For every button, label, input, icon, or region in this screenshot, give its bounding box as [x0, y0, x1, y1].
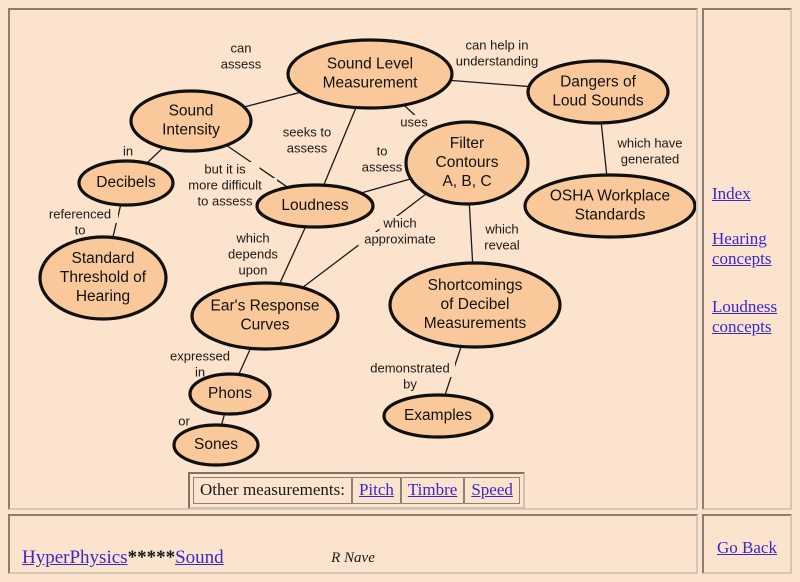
node-label: A, B, C: [442, 173, 491, 190]
loudness-concepts-link[interactable]: Loudness concepts: [712, 297, 788, 336]
node-filter-contours[interactable]: FilterContoursA, B, C: [406, 122, 528, 204]
node-standard-threshold-of-hearing[interactable]: StandardThreshold ofHearing: [40, 237, 166, 319]
node-label: of Decibel: [441, 296, 510, 313]
node-sound-intensity[interactable]: SoundIntensity: [131, 91, 251, 151]
node-label: Loud Sounds: [552, 93, 644, 110]
edge-sound-intensity-to-sound-level-measurement: [244, 92, 301, 107]
edge-label: but it is: [204, 161, 246, 176]
go-back-panel: Go Back: [702, 514, 792, 574]
edge-label: upon: [239, 262, 268, 277]
edge-label: in: [123, 143, 133, 158]
edge-label: understanding: [456, 53, 538, 68]
edge-label: in: [195, 364, 205, 379]
edge-dangers-of-loud-sounds-to-osha-workplace-standards: [601, 123, 606, 175]
author-credit: R Nave: [10, 550, 696, 567]
other-measurements-link-pitch[interactable]: Pitch: [352, 477, 401, 504]
node-label: Standard: [72, 250, 135, 267]
other-measurements-label: Other measurements:: [193, 477, 352, 504]
node-label: Measurements: [424, 315, 527, 332]
node-sones[interactable]: Sones: [174, 425, 258, 465]
node-label: Sound Level: [327, 56, 413, 73]
edge-filter-contours-to-shortcomings-of-decibel-measurements: [469, 204, 472, 263]
concept-map-panel: canassesscan help inunderstandingusessee…: [8, 8, 698, 510]
node-label: Examples: [404, 407, 472, 424]
node-label: Ear's Response: [211, 298, 320, 315]
edge-label: more difficult: [188, 177, 262, 192]
edge-label: which: [484, 221, 518, 236]
edge-label: assess: [221, 56, 262, 71]
edge-label: which: [382, 215, 416, 230]
edge-label: referenced: [49, 206, 111, 221]
node-shortcomings-of-decibel-measurements[interactable]: Shortcomingsof DecibelMeasurements: [390, 263, 560, 347]
node-examples[interactable]: Examples: [384, 395, 492, 437]
edge-label: which have: [616, 135, 682, 150]
concept-map-svg: canassesscan help inunderstandingusessee…: [10, 10, 696, 508]
node-label: Decibels: [96, 174, 156, 191]
edge-filter-contours-to-loudness: [361, 179, 411, 193]
node-label: Shortcomings: [428, 277, 523, 294]
edge-label: depends: [228, 246, 278, 261]
edge-label: seeks to: [283, 124, 331, 139]
side-links-panel: Index Hearing concepts Loudness concepts: [702, 8, 792, 510]
node-loudness[interactable]: Loudness: [257, 185, 373, 227]
node-decibels[interactable]: Decibels: [79, 161, 173, 205]
node-label: Intensity: [162, 122, 220, 139]
node-layer: Sound LevelMeasurementSoundIntensityDang…: [40, 40, 695, 465]
edge-label: to: [75, 222, 86, 237]
edge-label: reveal: [484, 237, 520, 252]
hearing-concepts-link[interactable]: Hearing concepts: [712, 229, 788, 268]
edge-label: demonstrated: [370, 360, 450, 375]
other-measurements-link-timbre[interactable]: Timbre: [401, 477, 464, 504]
node-label: Standards: [575, 207, 646, 224]
edge-label: generated: [621, 151, 680, 166]
other-measurements-bar: Other measurements: Pitch Timbre Speed: [188, 472, 525, 509]
edge-label: approximate: [364, 231, 436, 246]
node-label: Dangers of: [560, 74, 637, 91]
go-back-link[interactable]: Go Back: [704, 538, 790, 558]
timbre-link[interactable]: Timbre: [408, 480, 457, 500]
edge-label: which: [235, 230, 269, 245]
footer-panel: HyperPhysics*****Sound R Nave: [8, 514, 698, 574]
node-label: Phons: [208, 385, 252, 402]
edge-label: to assess: [198, 193, 253, 208]
node-label: Filter: [450, 135, 484, 152]
node-label: Loudness: [281, 197, 348, 214]
index-link[interactable]: Index: [712, 184, 788, 204]
speed-link[interactable]: Speed: [471, 480, 513, 500]
node-label: Measurement: [323, 75, 418, 92]
other-measurements-link-speed[interactable]: Speed: [464, 477, 520, 504]
node-label: Threshold of: [60, 269, 147, 286]
node-label: Hearing: [76, 288, 130, 305]
edge-label: can help in: [466, 37, 529, 52]
edge-label: expressed: [170, 348, 230, 363]
node-label: Sones: [194, 436, 238, 453]
page-root: canassesscan help inunderstandingusessee…: [0, 0, 800, 582]
edge-loudness-to-ears-response-curves: [280, 227, 306, 284]
edge-label: assess: [287, 140, 328, 155]
edge-phons-to-sones: [221, 414, 224, 425]
node-osha-workplace-standards[interactable]: OSHA WorkplaceStandards: [525, 175, 695, 237]
edge-sound-level-measurement-to-dangers-of-loud-sounds: [451, 80, 530, 86]
edge-label: uses: [400, 114, 428, 129]
edge-label: or: [178, 413, 190, 428]
node-ears-response-curves[interactable]: Ear's ResponseCurves: [192, 283, 338, 349]
node-label: Contours: [436, 154, 499, 171]
node-label: OSHA Workplace: [550, 188, 670, 205]
edge-sound-intensity-to-decibels: [147, 148, 163, 164]
edge-ears-response-curves-to-phons: [239, 348, 251, 374]
node-phons[interactable]: Phons: [190, 374, 270, 414]
node-dangers-of-loud-sounds[interactable]: Dangers ofLoud Sounds: [528, 61, 668, 123]
edge-label: assess: [362, 159, 403, 174]
edge-label: by: [403, 376, 417, 391]
edge-label: to: [377, 143, 388, 158]
pitch-link[interactable]: Pitch: [359, 480, 394, 500]
node-sound-level-measurement[interactable]: Sound LevelMeasurement: [288, 40, 452, 108]
node-label: Curves: [240, 317, 289, 334]
node-label: Sound: [169, 103, 214, 120]
edge-label: can: [231, 40, 252, 55]
